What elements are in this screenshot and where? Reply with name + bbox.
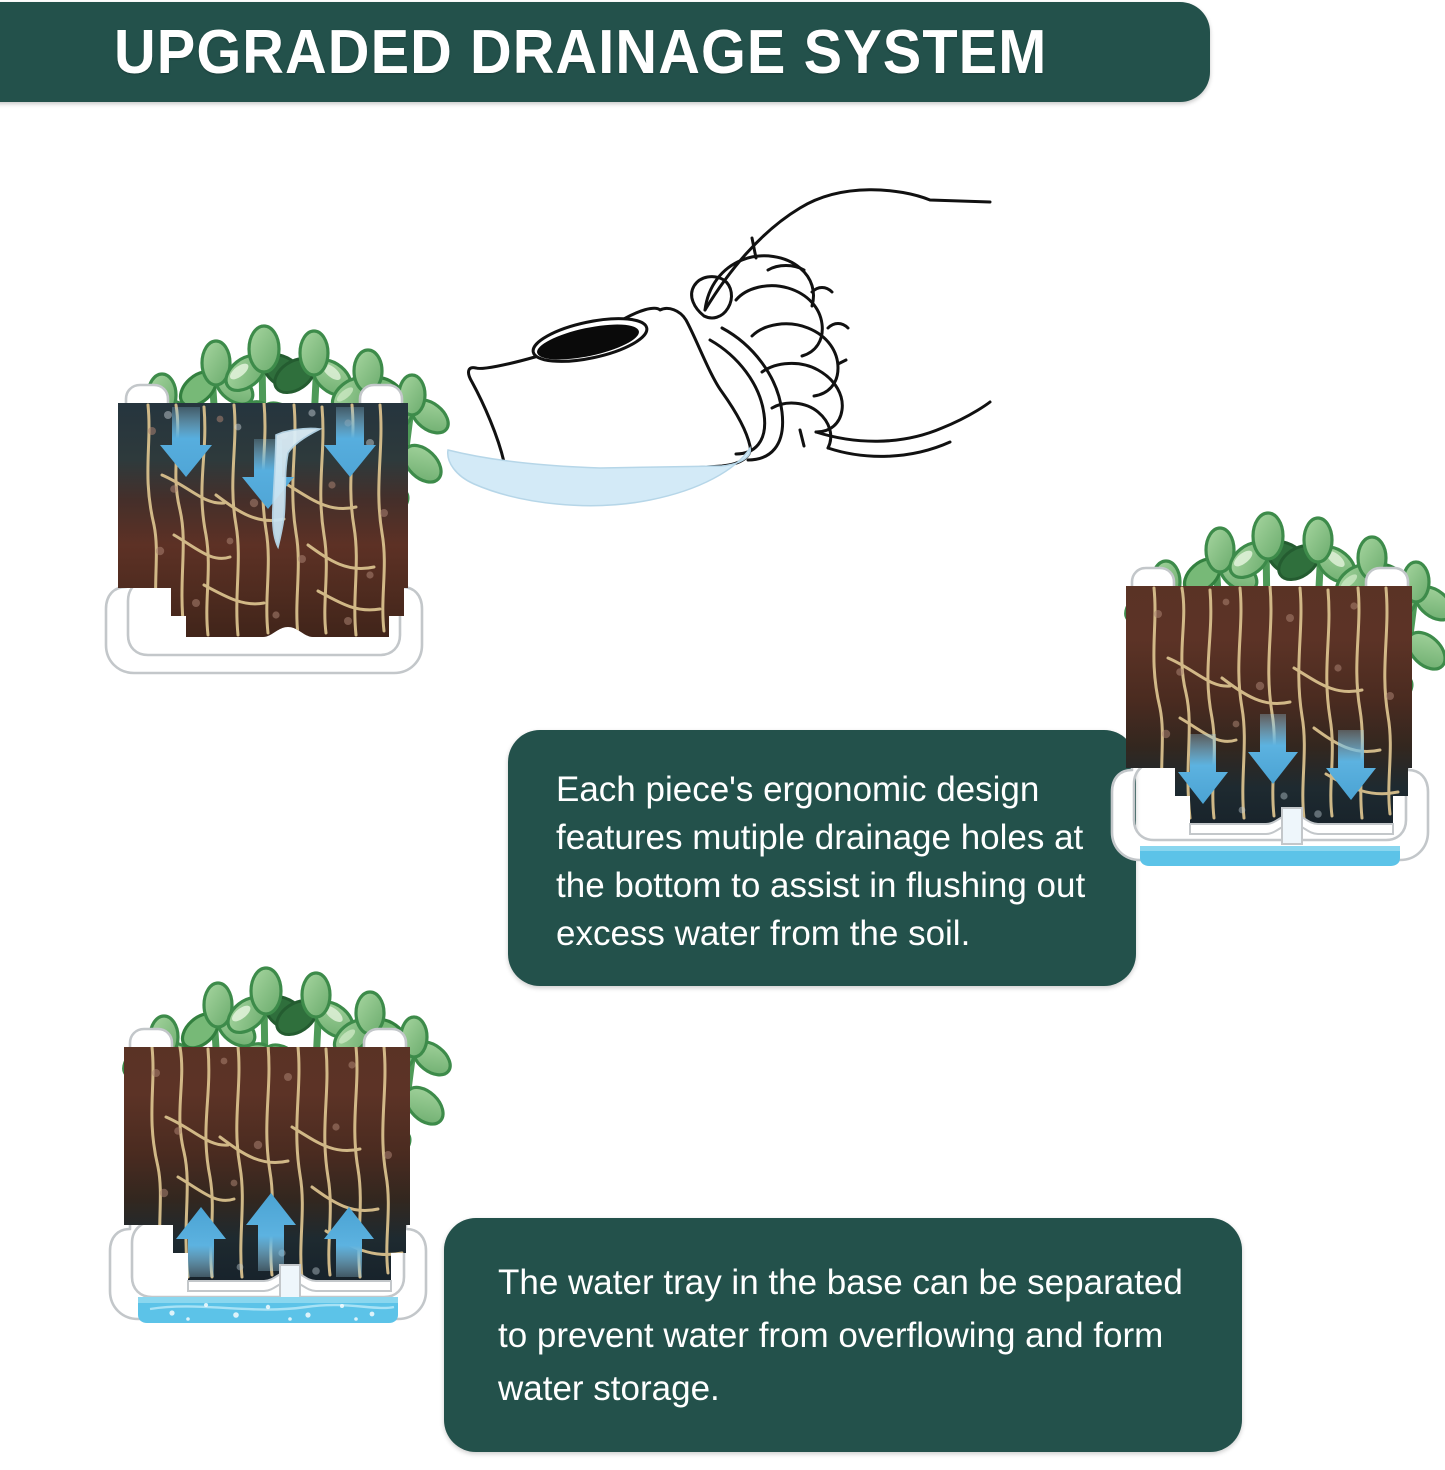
illustration-hand-watering-can <box>460 160 990 560</box>
tray-water <box>1140 846 1400 866</box>
callout-1-text: Each piece's ergonomic design features m… <box>556 766 1102 958</box>
title-banner: UPGRADED DRAINAGE SYSTEM <box>0 2 1210 102</box>
illustration-planter-water-storage <box>110 985 455 1470</box>
illustration-planter-draining-into-tray <box>1112 518 1445 1014</box>
page-title: UPGRADED DRAINAGE SYSTEM <box>114 17 1047 88</box>
infographic-canvas: UPGRADED DRAINAGE SYSTEM <box>0 0 1445 1470</box>
illustration-planter-being-watered <box>108 335 468 865</box>
soil-cross-section <box>1112 578 1432 834</box>
callout-box-drainage-holes: Each piece's ergonomic design features m… <box>508 730 1136 986</box>
callout-box-water-tray: The water tray in the base can be separa… <box>444 1218 1242 1452</box>
tray-water <box>138 1297 398 1323</box>
soil-cross-section <box>108 395 428 645</box>
callout-2-text: The water tray in the base can be separa… <box>498 1256 1212 1416</box>
watering-can <box>448 308 783 505</box>
